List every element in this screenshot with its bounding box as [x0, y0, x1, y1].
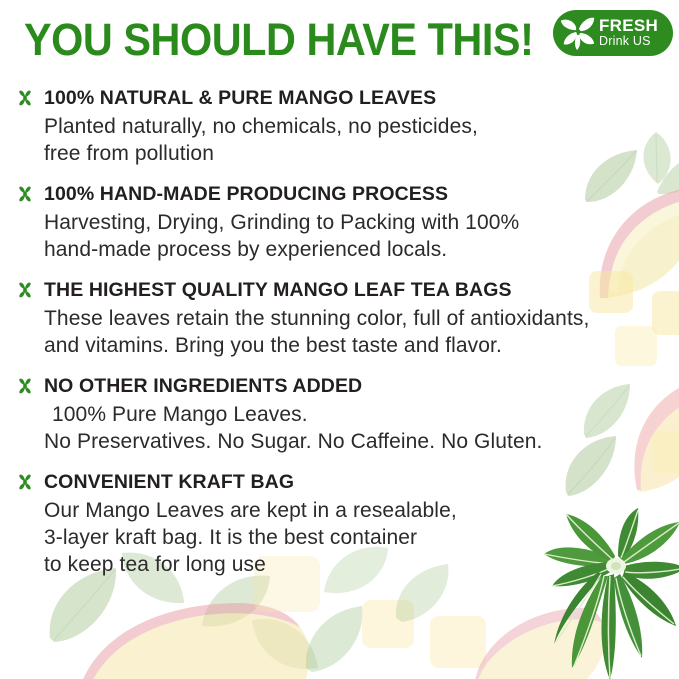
- mango-cube-illustration: [426, 612, 496, 678]
- leaf-illustration: [248, 610, 322, 679]
- list-item: CONVENIENT KRAFT BAG Our Mango Leaves ar…: [0, 470, 679, 578]
- feature-body: Planted naturally, no chemicals, no pest…: [44, 113, 679, 167]
- feature-heading: NO OTHER INGREDIENTS ADDED: [44, 374, 679, 398]
- mango-cube-illustration: [358, 596, 422, 656]
- feature-line: hand-made process by experienced locals.: [44, 236, 679, 263]
- feature-heading: CONVENIENT KRAFT BAG: [44, 470, 679, 494]
- feature-line: Harvesting, Drying, Grinding to Packing …: [44, 209, 679, 236]
- page-title: YOU SHOULD HAVE THIS!: [24, 16, 533, 64]
- four-leaf-icon: [559, 14, 597, 52]
- feature-line: Our Mango Leaves are kept in a resealabl…: [44, 497, 679, 524]
- feature-heading: THE HIGHEST QUALITY MANGO LEAF TEA BAGS: [44, 278, 679, 302]
- list-item: THE HIGHEST QUALITY MANGO LEAF TEA BAGS …: [0, 278, 679, 359]
- feature-line: 3-layer kraft bag. It is the best contai…: [44, 524, 679, 551]
- header: YOU SHOULD HAVE THIS! FRESH Drink US: [0, 0, 679, 76]
- mango-fruit-illustration: [470, 596, 620, 679]
- list-item: NO OTHER INGREDIENTS ADDED 100% Pure Man…: [0, 374, 679, 455]
- feature-heading: 100% NATURAL & PURE MANGO LEAVES: [44, 86, 679, 110]
- feature-line: Planted naturally, no chemicals, no pest…: [44, 113, 679, 140]
- mango-fruit-illustration: [70, 595, 330, 679]
- list-item: 100% NATURAL & PURE MANGO LEAVES Planted…: [0, 86, 679, 167]
- feature-line: No Preservatives. No Sugar. No Caffeine.…: [44, 428, 679, 455]
- clover-icon: [16, 377, 34, 395]
- clover-icon: [16, 89, 34, 107]
- clover-icon: [16, 281, 34, 299]
- brand-logo[interactable]: FRESH Drink US: [553, 10, 673, 56]
- feature-line: and vitamins. Bring you the best taste a…: [44, 332, 679, 359]
- feature-body: These leaves retain the stunning color, …: [44, 305, 679, 359]
- feature-body: Our Mango Leaves are kept in a resealabl…: [44, 497, 679, 578]
- feature-line: 100% Pure Mango Leaves.: [44, 401, 679, 428]
- list-item: 100% HAND-MADE PRODUCING PROCESS Harvest…: [0, 182, 679, 263]
- product-feature-card: YOU SHOULD HAVE THIS! FRESH Drink US: [0, 0, 679, 679]
- feature-body: 100% Pure Mango Leaves. No Preservatives…: [44, 401, 679, 455]
- feature-line: to keep tea for long use: [44, 551, 679, 578]
- logo-tagline: Drink US: [599, 34, 658, 49]
- feature-body: Harvesting, Drying, Grinding to Packing …: [44, 209, 679, 263]
- feature-heading: 100% HAND-MADE PRODUCING PROCESS: [44, 182, 679, 206]
- logo-text: FRESH Drink US: [599, 17, 658, 49]
- clover-icon: [16, 473, 34, 491]
- logo-brand-name: FRESH: [599, 17, 658, 34]
- clover-icon: [16, 185, 34, 203]
- leaf-illustration: [300, 600, 380, 676]
- feature-line: These leaves retain the stunning color, …: [44, 305, 679, 332]
- feature-line: free from pollution: [44, 140, 679, 167]
- feature-list: 100% NATURAL & PURE MANGO LEAVES Planted…: [0, 86, 679, 593]
